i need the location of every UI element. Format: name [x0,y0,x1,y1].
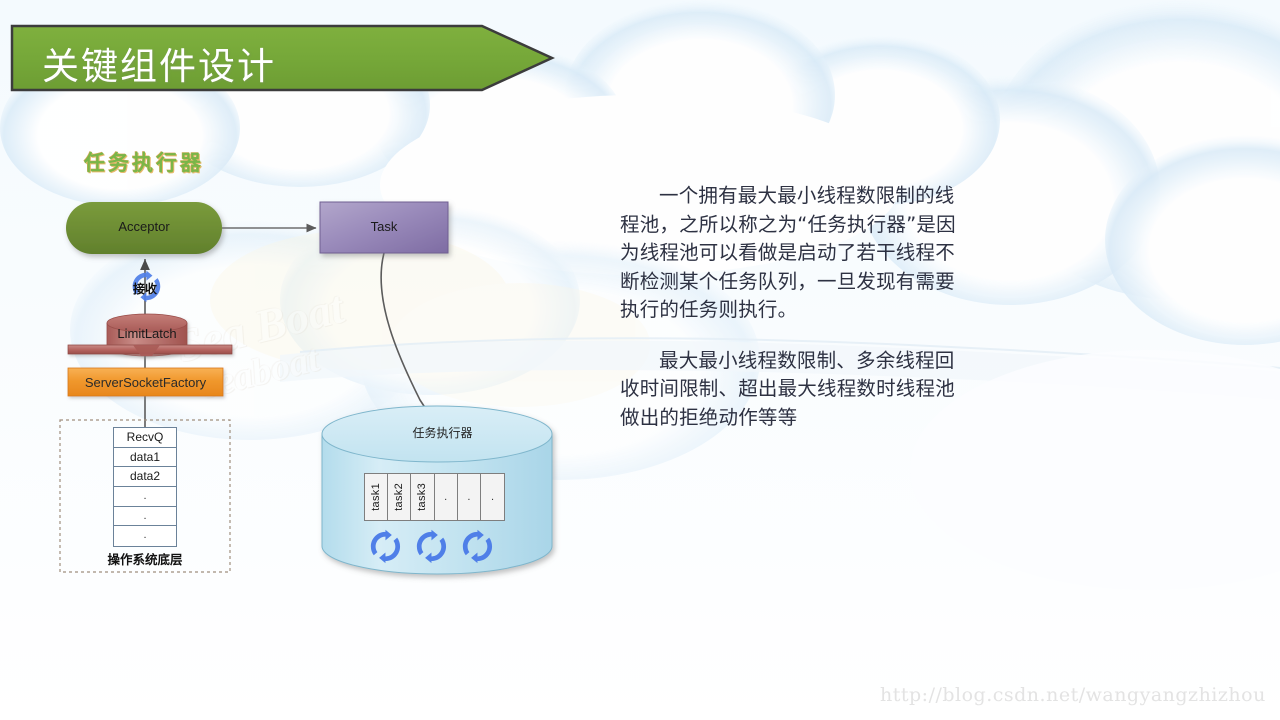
section-heading: 任务执行器 [84,147,204,177]
node-label-task: Task [320,219,448,234]
task-queue-cell-label: . [467,491,470,503]
edge-label-receive: 接收 [121,280,169,297]
task-queue-cell: . [435,474,458,520]
node-label-server-socket-factory: ServerSocketFactory [68,375,223,390]
task-queue-cell: . [481,474,504,520]
limit-latch-bar [68,345,232,356]
recv-queue-row: . [114,487,176,507]
task-queue-cell: task1 [365,474,388,520]
cycle-arrows-icon-worker-2 [417,530,446,563]
node-label-os-layer: 操作系统底层 [62,549,228,568]
recv-queue-row: . [114,507,176,527]
recv-queue-row: . [114,526,176,546]
footer-blog-url: http://blog.csdn.net/wangyangzhizhou [880,684,1266,706]
body-paragraph-2: 最大最小线程数限制、多余线程回收时间限制、超出最大线程数时线程池做出的拒绝动作等… [620,347,960,433]
task-queue-cell-label: task1 [370,483,382,511]
cycle-arrows-icon-worker-1 [371,530,400,563]
task-queue-cell-label: task2 [393,483,405,511]
node-label-acceptor: Acceptor [66,219,222,234]
task-queue-cell-label: task3 [416,483,428,511]
task-queue-table: task1 task2 task3 . . . [364,473,505,521]
recv-queue-row: data2 [114,467,176,487]
task-queue-cell-label: . [444,491,447,503]
node-label-task-executor-pool: 任务执行器 [330,424,555,441]
recv-queue-row: data1 [114,448,176,468]
task-queue-cell: task2 [388,474,411,520]
recv-queue-header: RecvQ [114,428,176,448]
page-title: 关键组件设计 [42,36,276,90]
task-queue-cell: . [458,474,481,520]
body-paragraph-1: 一个拥有最大最小线程数限制的线程池，之所以称之为“任务执行器”是因为线程池可以看… [620,182,960,325]
cycle-arrows-icon-worker-3 [463,530,492,563]
node-label-limit-latch: LimitLatch [104,326,190,341]
body-text-column: 一个拥有最大最小线程数限制的线程池，之所以称之为“任务执行器”是因为线程池可以看… [620,182,960,454]
recv-queue-table: RecvQ data1 data2 . . . [113,427,177,547]
slide-title-banner: 关键组件设计 [8,22,556,94]
watermark-line-2: seaboat [198,330,348,408]
task-queue-cell: task3 [411,474,434,520]
watermark-line-1: Sea Boat [171,280,349,373]
connector-task-to-pool [381,253,431,420]
task-queue-cell-label: . [491,491,494,503]
